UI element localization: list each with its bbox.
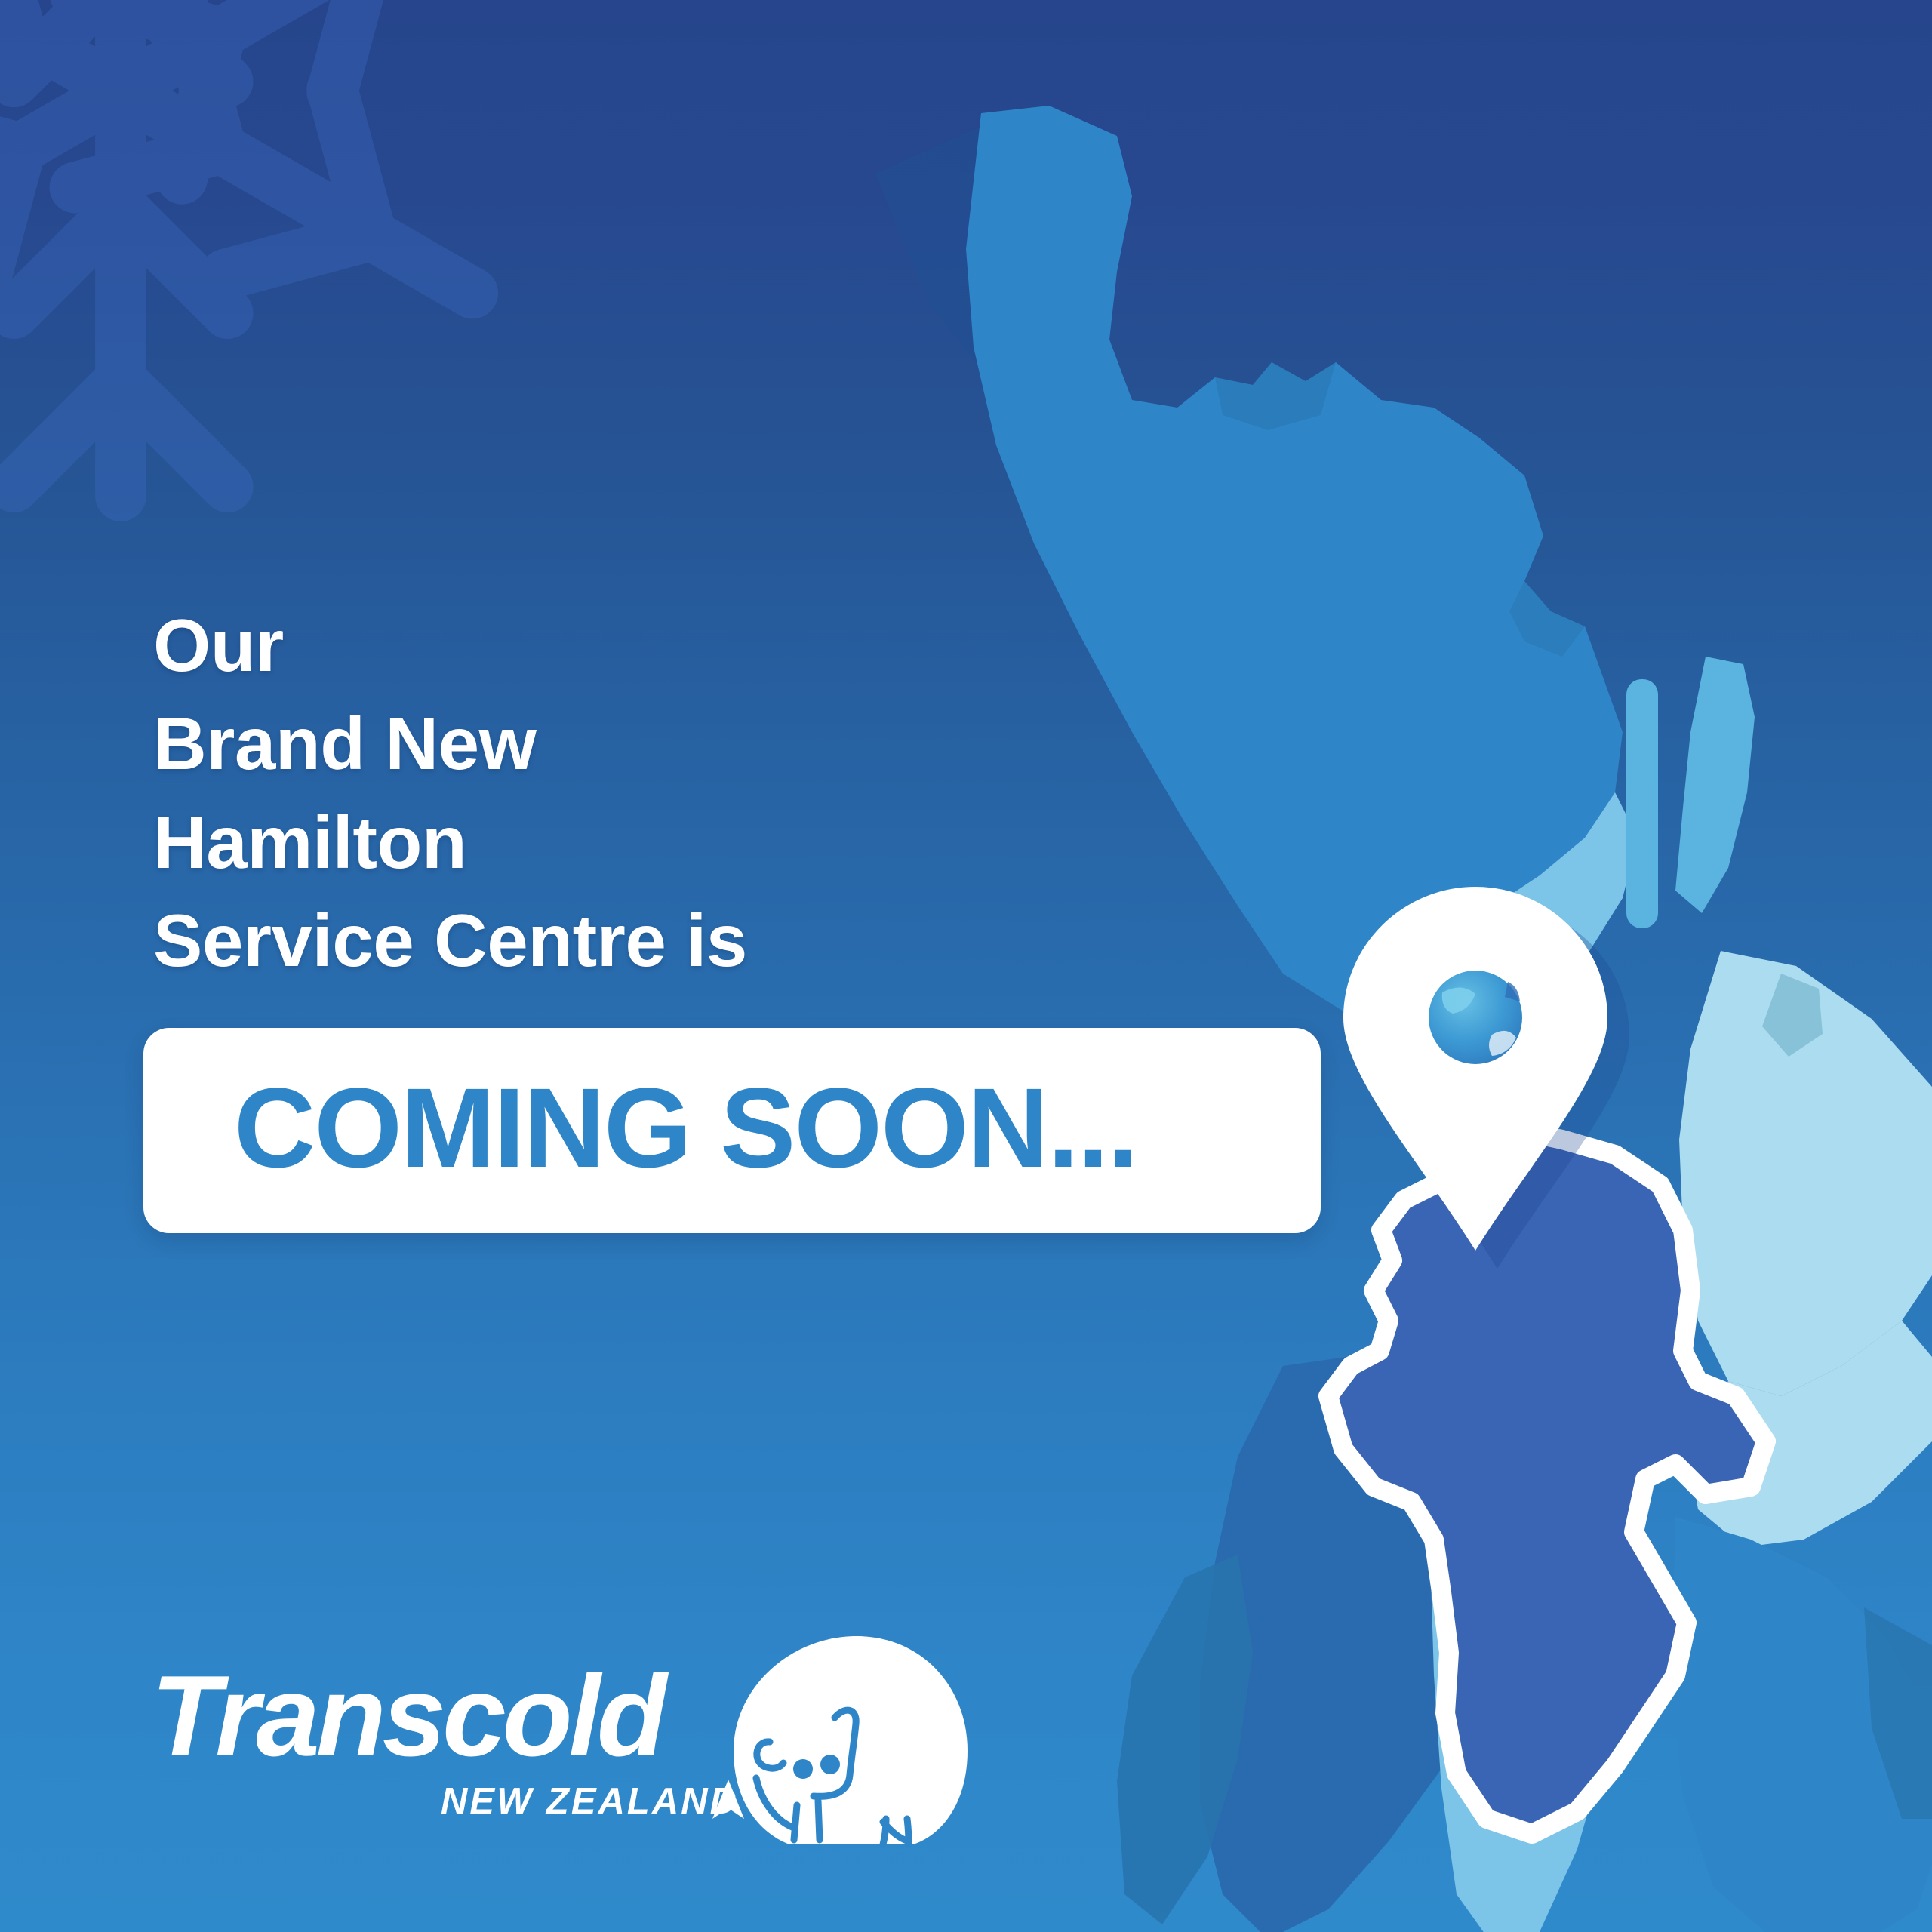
logo-subtitle: NEW ZEALAND	[441, 1783, 739, 1820]
bear-eye-left	[793, 1759, 813, 1779]
map-pin-icon	[1317, 879, 1634, 1272]
headline-line-2: Brand New	[153, 694, 1059, 792]
logo-wordmark: Transcold	[151, 1659, 663, 1774]
map-pin-body	[1343, 887, 1607, 1251]
polar-bear-icon	[724, 1630, 974, 1857]
coming-soon-banner: COMING SOON...	[143, 1028, 1321, 1233]
headline-line-4: Service Centre is	[153, 891, 1059, 989]
page-title: Our Brand New Hamilton Service Centre is	[153, 596, 1059, 989]
headline-line-3: Hamilton	[153, 793, 1059, 891]
transcold-logo: Transcold NEW ZEALAND	[151, 1645, 891, 1864]
headline-line-1: Our	[153, 596, 1059, 694]
bear-eye-right	[820, 1755, 840, 1774]
coming-soon-label: COMING SOON...	[234, 1063, 1137, 1193]
